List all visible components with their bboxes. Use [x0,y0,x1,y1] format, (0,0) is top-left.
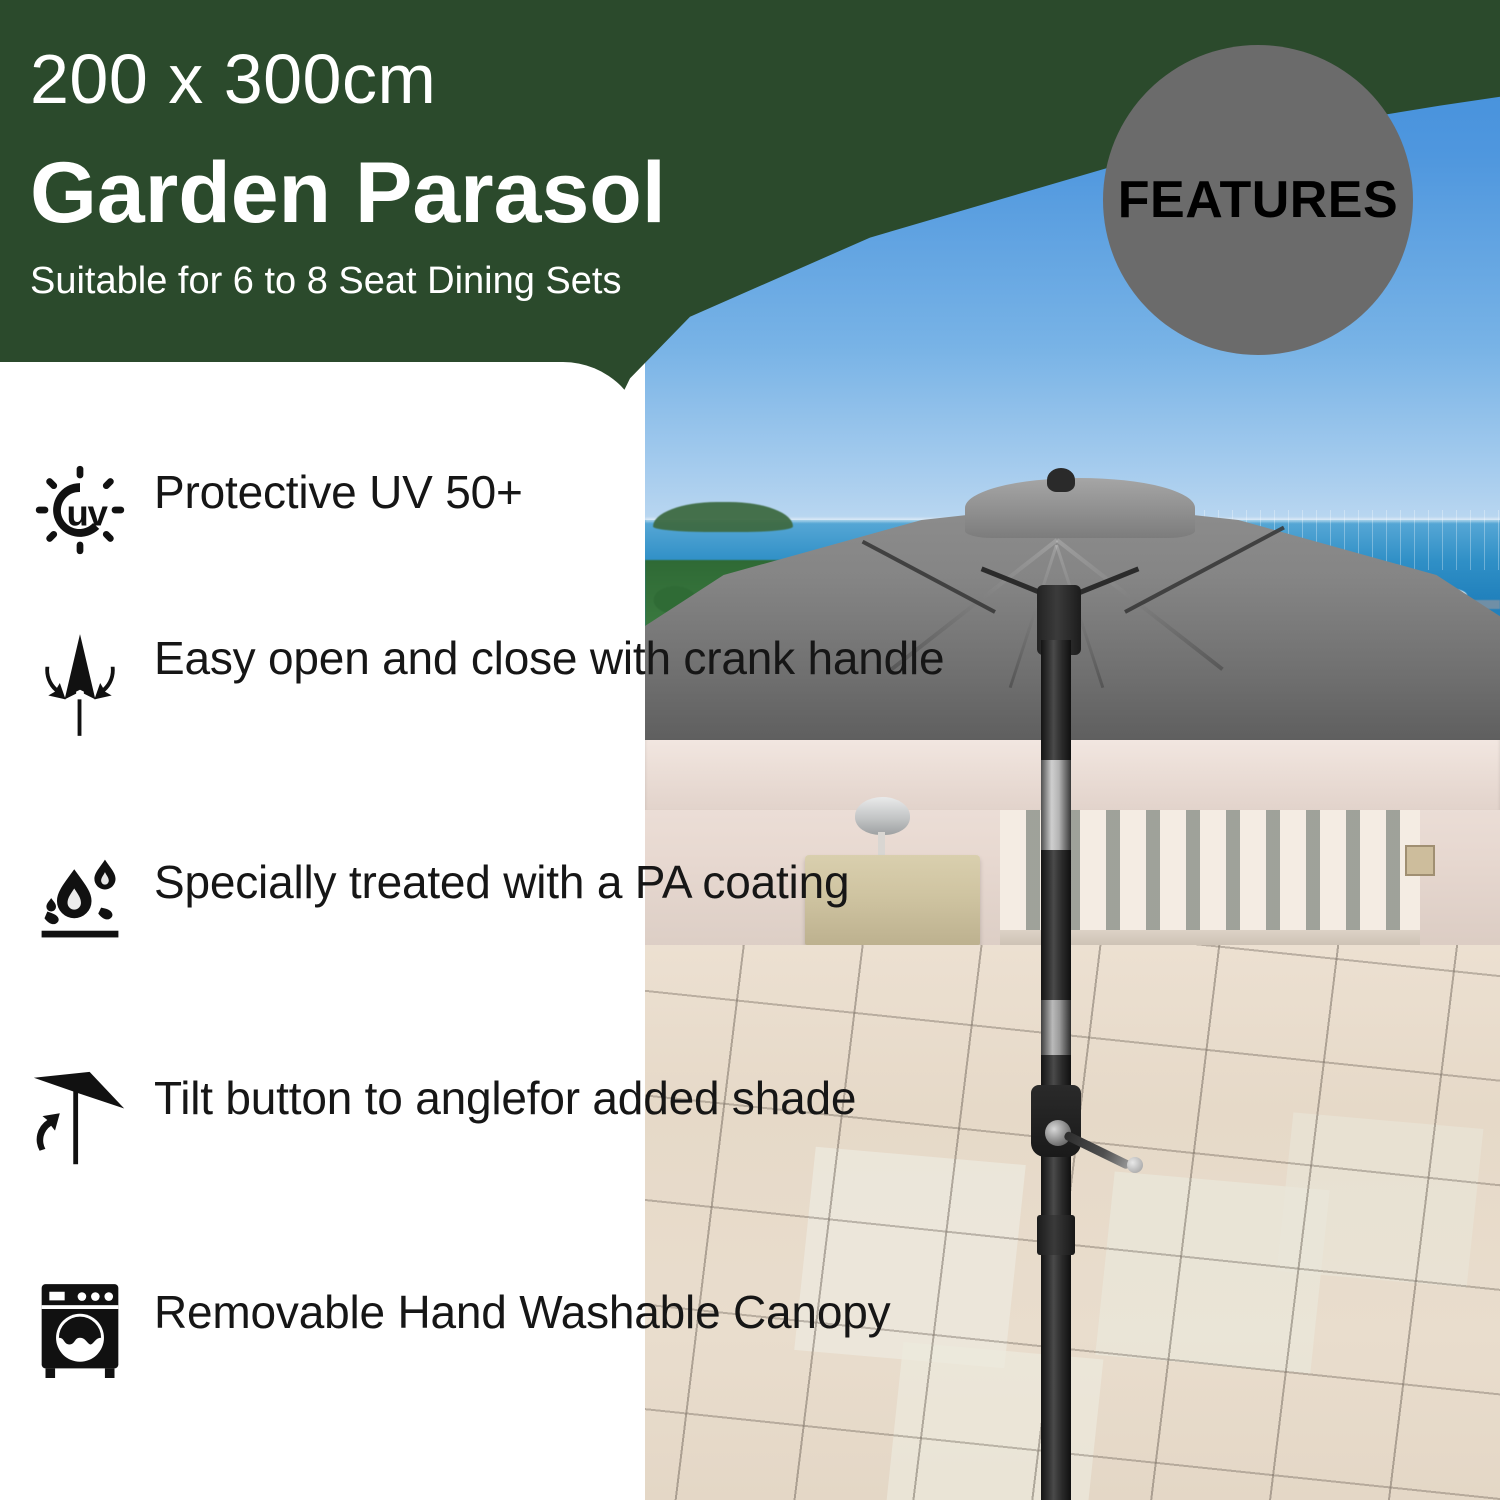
washing-machine-icon [28,1282,132,1382]
product-subtitle: Suitable for 6 to 8 Seat Dining Sets [30,262,621,300]
parasol-finial [1047,468,1075,492]
feature-item-washable: Removable Hand Washable Canopy [28,1282,890,1382]
feature-item-tilt: Tilt button to anglefor added shade [28,1068,856,1172]
crank-knob [1127,1157,1143,1173]
feature-item-open-close: Easy open and close with crank handle [28,628,944,740]
feature-item-pa-coating: Specially treated with a PA coating [28,852,849,948]
pole-band [1041,760,1071,850]
wall-lamp [855,797,910,835]
wall-fixture [1405,845,1435,876]
water-droplet-icon [28,852,132,948]
page-title: Garden Parasol [30,150,666,236]
svg-text:u: u [67,492,89,533]
feature-item-uv: u v Protective UV 50+ [28,462,523,558]
pole-joint [1037,1215,1075,1255]
svg-text:v: v [88,492,109,533]
feature-label: Protective UV 50+ [154,462,523,520]
features-badge-label: FEATURES [1118,170,1398,230]
feature-label: Specially treated with a PA coating [154,852,849,910]
product-size: 200 x 300cm [30,44,436,114]
infographic-canvas: 200 x 300cm Garden Parasol Suitable for … [0,0,1500,1500]
feature-label: Easy open and close with crank handle [154,628,944,686]
uv-sun-icon: u v [28,462,132,558]
feature-label: Tilt button to anglefor added shade [154,1068,856,1126]
tilt-umbrella-icon [28,1068,132,1172]
umbrella-open-close-icon [28,628,132,740]
pole-band [1041,1000,1071,1055]
terrace-wall [645,735,1500,810]
feature-label: Removable Hand Washable Canopy [154,1282,890,1340]
features-badge: FEATURES [1103,45,1413,355]
parasol-canopy-crown [965,478,1195,538]
